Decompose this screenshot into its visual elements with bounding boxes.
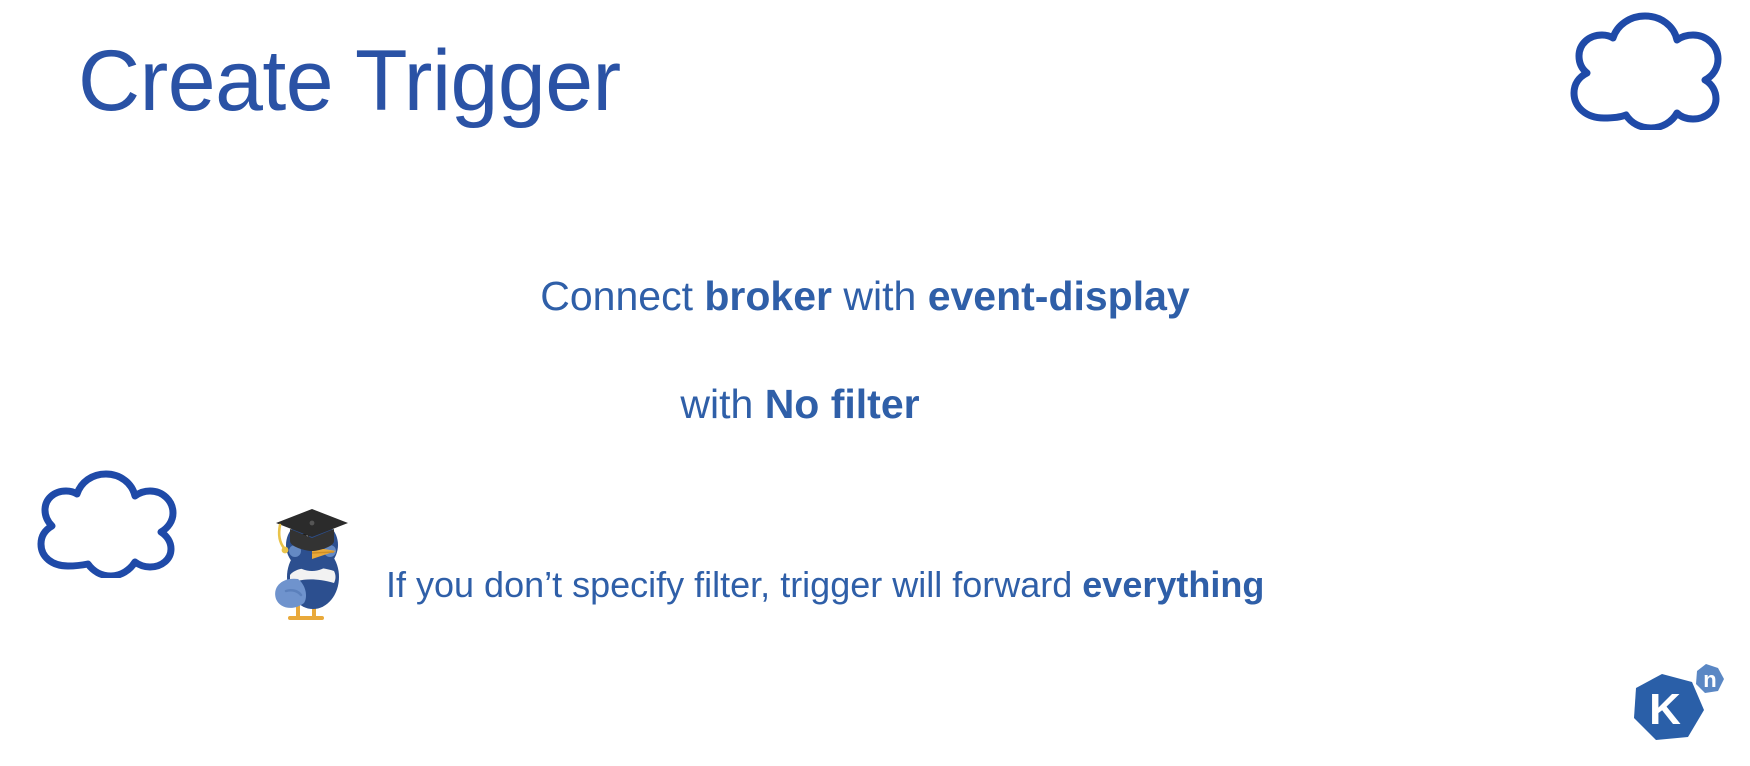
slide-canvas: Create Trigger Connect broker with event…	[0, 0, 1750, 766]
line1-middle: with	[832, 273, 928, 319]
line2-bold-no-filter: No filter	[765, 381, 920, 427]
cloud-icon	[1548, 8, 1728, 130]
note-text: If you don’t specify filter, trigger wil…	[386, 564, 1264, 606]
note-bold-everything: everything	[1082, 564, 1264, 605]
line1-prefix: Connect	[540, 273, 704, 319]
knative-logo-secondary-letter: n	[1703, 667, 1716, 692]
line1-bold-broker: broker	[704, 273, 832, 319]
note-prefix: If you don’t specify filter, trigger wil…	[386, 564, 1082, 605]
bird-with-graduation-cap-icon	[268, 505, 354, 623]
cloud-icon	[18, 466, 183, 578]
statement-line-2: with No filter	[0, 381, 1750, 428]
knative-logo-primary-letter: K	[1649, 685, 1681, 734]
line1-bold-event-display: event-display	[928, 273, 1190, 319]
knative-logo: K n	[1620, 652, 1732, 756]
statement-line-1: Connect broker with event-display	[0, 273, 1750, 320]
line2-prefix: with	[680, 381, 764, 427]
note-row: If you don’t specify filter, trigger wil…	[268, 505, 1264, 623]
page-title: Create Trigger	[78, 36, 621, 126]
